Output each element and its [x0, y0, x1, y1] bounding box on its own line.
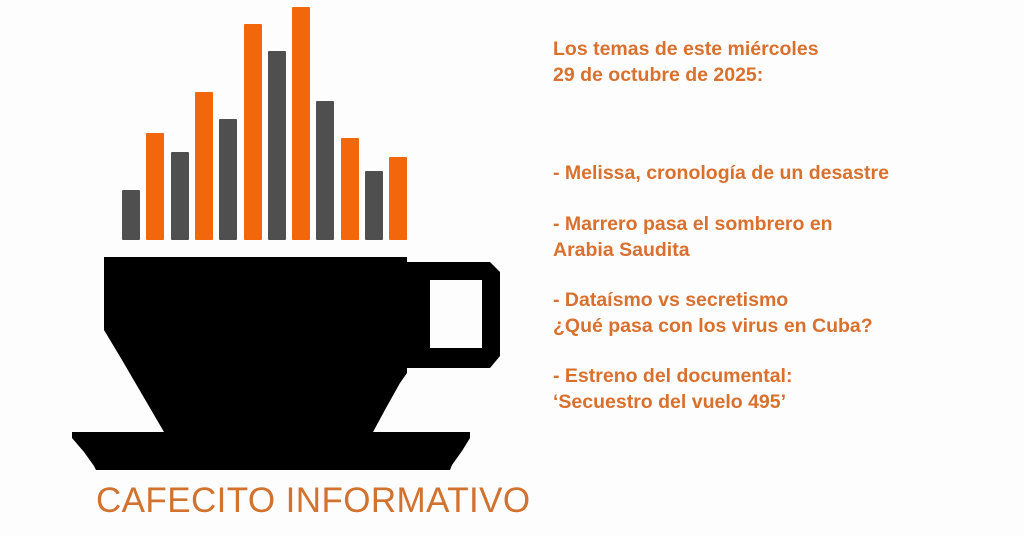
- topic-item-1-line-1: - Melissa, cronología de un desastre: [553, 160, 889, 186]
- bar-10: [341, 138, 359, 240]
- coffee-cup-icon: [60, 248, 510, 488]
- bar-12: [389, 157, 407, 240]
- bar-5: [219, 119, 237, 240]
- header-line-1: Los temas de este miércoles: [553, 36, 819, 62]
- topic-item-3-line-2: ¿Qué pasa con los virus en Cuba?: [553, 313, 873, 339]
- topic-item-2-line-1: - Marrero pasa el sombrero en: [553, 211, 833, 237]
- cup-handle-hole: [430, 280, 482, 348]
- bar-6: [244, 24, 262, 240]
- topic-item-2-line-2: Arabia Saudita: [553, 237, 690, 263]
- topic-item-4-line-2: ‘Secuestro del vuelo 495’: [553, 389, 786, 415]
- bar-9: [316, 101, 334, 240]
- bar-1: [122, 190, 140, 240]
- bar-3: [171, 152, 189, 240]
- bar-4: [195, 92, 213, 240]
- bar-2: [146, 133, 164, 240]
- header-line-2: 29 de octubre de 2025:: [553, 62, 763, 88]
- bar-chart-steam-icon: [122, 0, 392, 240]
- topics-panel: Los temas de este miércoles 29 de octubr…: [553, 0, 1013, 536]
- bar-7: [268, 51, 286, 240]
- cafecito-logo-block: CAFECITO INFORMATIVO: [0, 0, 520, 536]
- slide-canvas: CAFECITO INFORMATIVO Los temas de este m…: [0, 0, 1024, 536]
- topic-item-3-line-1: - Dataísmo vs secretismo: [553, 287, 788, 313]
- bar-8: [292, 7, 310, 240]
- brand-wordmark: CAFECITO INFORMATIVO: [96, 482, 516, 521]
- topic-item-4-line-1: - Estreno del documental:: [553, 363, 792, 389]
- bar-11: [365, 171, 383, 240]
